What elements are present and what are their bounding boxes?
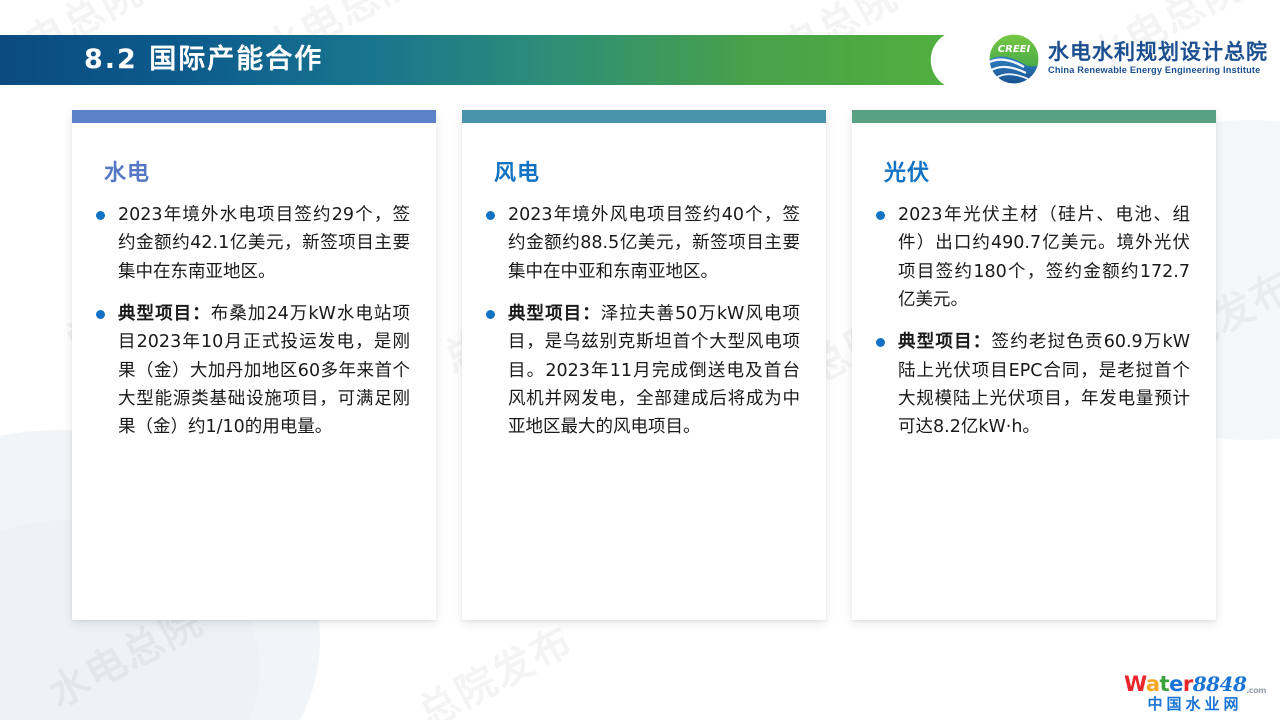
bullet-dot-icon <box>486 211 495 220</box>
brand-name-en: China Renewable Energy Engineering Insti… <box>1048 64 1268 76</box>
card-bullet-list: 2023年境外风电项目签约40个，签约金额约88.5亿美元，新签项目主要集中在中… <box>484 201 800 442</box>
bullet-lead: 典型项目： <box>898 332 992 352</box>
logo-letter-t: t <box>1160 672 1170 696</box>
logo-name-cn: 中国水业网 <box>1124 697 1266 712</box>
card-bullet-list: 2023年光伏主材（硅片、电池、组件）出口约490.7亿美元。境外光伏项目签约1… <box>874 201 1190 442</box>
bullet-lead: 典型项目： <box>508 304 601 324</box>
bullet-lead: 典型项目： <box>118 304 211 324</box>
bullet-text: 布桑加24万kW水电站项目2023年10月正式投运发电，是刚果（金）大加丹加地区… <box>118 304 410 437</box>
logo-dotcom: .com <box>1246 686 1266 695</box>
brand-name-cn: 水电水利规划设计总院 <box>1048 41 1268 64</box>
slide-canvas: 水电总院 水电总院 水电总院 水电总院 总院发布 总院发布 总院发布 总院发布 … <box>0 0 1280 720</box>
creei-logo-icon: CREEI <box>988 33 1040 85</box>
card-wind-power[interactable]: 风电 2023年境外风电项目签约40个，签约金额约88.5亿美元，新签项目主要集… <box>462 110 826 620</box>
card-accent-bar <box>852 110 1216 123</box>
card-accent-bar <box>462 110 826 123</box>
bullet-dot-icon <box>876 211 885 220</box>
logo-letter-r: r <box>1183 672 1193 696</box>
bullet-dot-icon <box>96 211 105 220</box>
bullet-dot-icon <box>486 310 495 319</box>
card-body: 风电 2023年境外风电项目签约40个，签约金额约88.5亿美元，新签项目主要集… <box>462 123 826 620</box>
list-item: 典型项目：布桑加24万kW水电站项目2023年10月正式投运发电，是刚果（金）大… <box>94 300 410 442</box>
bullet-dot-icon <box>96 310 105 319</box>
creei-logo-text: CREEI <box>998 44 1031 55</box>
bullet-text: 2023年境外风电项目签约40个，签约金额约88.5亿美元，新签项目主要集中在中… <box>508 205 800 282</box>
brand-name-block: 水电水利规划设计总院 China Renewable Energy Engine… <box>1048 41 1268 77</box>
bullet-text: 泽拉夫善50万kW风电项目，是乌兹别克斯坦首个大型风电项目。2023年11月完成… <box>508 304 800 437</box>
logo-letter-w: W <box>1124 672 1146 696</box>
watermark-text: 总院发布 <box>406 609 582 720</box>
page-title: 8.2 国际产能合作 <box>84 35 323 85</box>
list-item: 2023年境外风电项目签约40个，签约金额约88.5亿美元，新签项目主要集中在中… <box>484 201 800 286</box>
card-body: 光伏 2023年光伏主材（硅片、电池、组件）出口约490.7亿美元。境外光伏项目… <box>852 123 1216 620</box>
bullet-text: 2023年光伏主材（硅片、电池、组件）出口约490.7亿美元。境外光伏项目签约1… <box>898 205 1190 310</box>
brand-block: CREEI 水电水利规划设计总院 China Renewable Energy … <box>988 33 1268 85</box>
logo-letter-a: a <box>1146 672 1160 696</box>
card-photovoltaic[interactable]: 光伏 2023年光伏主材（硅片、电池、组件）出口约490.7亿美元。境外光伏项目… <box>852 110 1216 620</box>
water8848-logo[interactable]: Water8848.com 中国水业网 <box>1124 674 1266 712</box>
water8848-wordmark: Water8848.com <box>1124 674 1266 695</box>
card-title: 光伏 <box>884 155 1190 187</box>
logo-letter-e: e <box>1169 672 1183 696</box>
card-title: 水电 <box>104 155 410 187</box>
card-body: 水电 2023年境外水电项目签约29个，签约金额约42.1亿美元，新签项目主要集… <box>72 123 436 620</box>
list-item: 2023年光伏主材（硅片、电池、组件）出口约490.7亿美元。境外光伏项目签约1… <box>874 201 1190 314</box>
card-accent-bar <box>72 110 436 123</box>
bullet-text: 2023年境外水电项目签约29个，签约金额约42.1亿美元，新签项目主要集中在东… <box>118 205 410 282</box>
bullet-dot-icon <box>876 338 885 347</box>
list-item: 典型项目：签约老挝色贡60.9万kW陆上光伏项目EPC合同，是老挝首个大规模陆上… <box>874 328 1190 441</box>
content-cards: 水电 2023年境外水电项目签约29个，签约金额约42.1亿美元，新签项目主要集… <box>72 110 1216 620</box>
card-bullet-list: 2023年境外水电项目签约29个，签约金额约42.1亿美元，新签项目主要集中在东… <box>94 201 410 442</box>
list-item: 典型项目：泽拉夫善50万kW风电项目，是乌兹别克斯坦首个大型风电项目。2023年… <box>484 300 800 442</box>
card-hydropower[interactable]: 水电 2023年境外水电项目签约29个，签约金额约42.1亿美元，新签项目主要集… <box>72 110 436 620</box>
card-title: 风电 <box>494 155 800 187</box>
slide-header: 8.2 国际产能合作 <box>0 35 960 85</box>
logo-number: 8848 <box>1193 672 1247 696</box>
list-item: 2023年境外水电项目签约29个，签约金额约42.1亿美元，新签项目主要集中在东… <box>94 201 410 286</box>
